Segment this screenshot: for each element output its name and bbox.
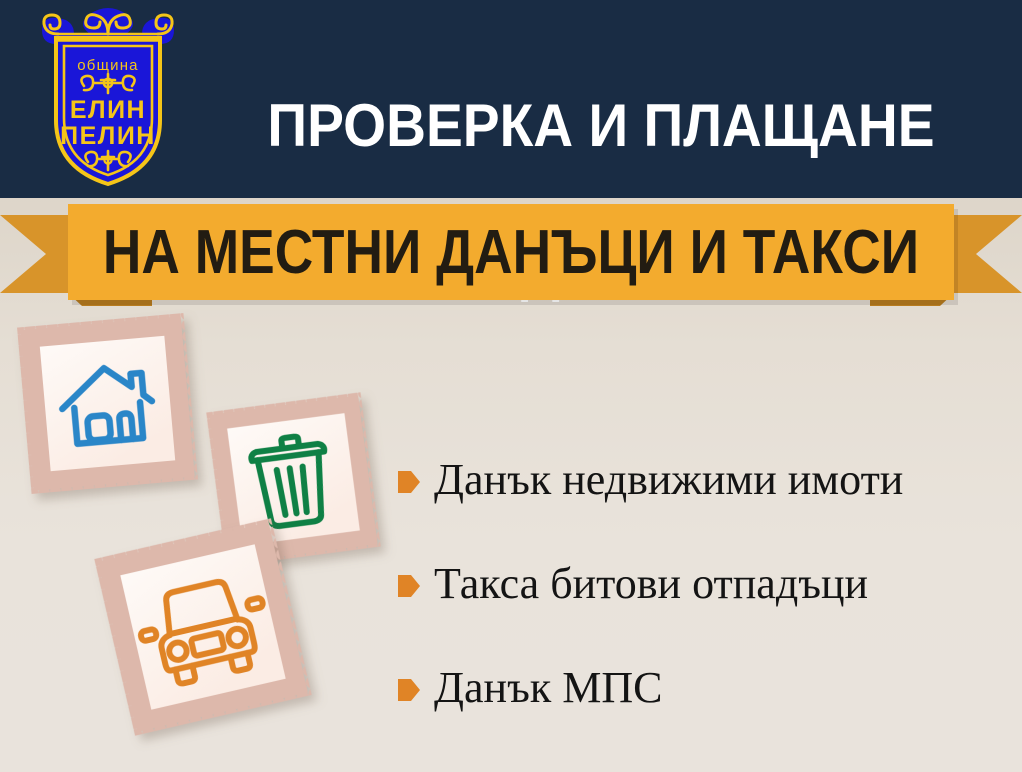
list-item-label: Данък МПС <box>434 665 662 711</box>
svg-text:ПЕЛИН: ПЕЛИН <box>60 122 156 150</box>
page-title-line-1: ПРОВЕРКА И ПЛАЩАНЕ <box>227 90 974 162</box>
ribbon-banner: НА МЕСТНИ ДАНЪЦИ И ТАКСИ <box>0 196 1022 314</box>
list-item[interactable]: Такса битови отпадъци <box>398 532 1010 636</box>
stamp-card-property <box>13 309 203 499</box>
municipality-logo: община ЕЛИН ПЕЛИН <box>28 8 188 190</box>
svg-text:ЕЛИН: ЕЛИН <box>70 96 146 124</box>
stamp-house <box>13 309 203 499</box>
poster-canvas: община ЕЛИН ПЕЛИН ПРОВЕРКА И ПЛАЩАНЕ НА … <box>0 0 1022 772</box>
coat-of-arms-icon: община ЕЛИН ПЕЛИН <box>28 8 188 190</box>
ribbon-label: НА МЕСТНИ ДАНЪЦИ И ТАКСИ <box>130 204 892 300</box>
arrow-bullet-icon <box>398 677 420 703</box>
arrow-bullet-icon <box>398 469 420 495</box>
list-item[interactable]: Данък недвижими имоти <box>398 428 1010 532</box>
ribbon-band: НА МЕСТНИ ДАНЪЦИ И ТАКСИ <box>68 204 954 300</box>
list-item-label: Такса битови отпадъци <box>434 561 868 607</box>
list-item[interactable]: Данък МПС <box>398 636 1010 740</box>
tax-types-list: Данък недвижими имоти Такса битови отпад… <box>398 428 1010 740</box>
list-item-label: Данък недвижими имоти <box>434 457 903 503</box>
arrow-bullet-icon <box>398 573 420 599</box>
svg-text:община: община <box>77 57 138 74</box>
